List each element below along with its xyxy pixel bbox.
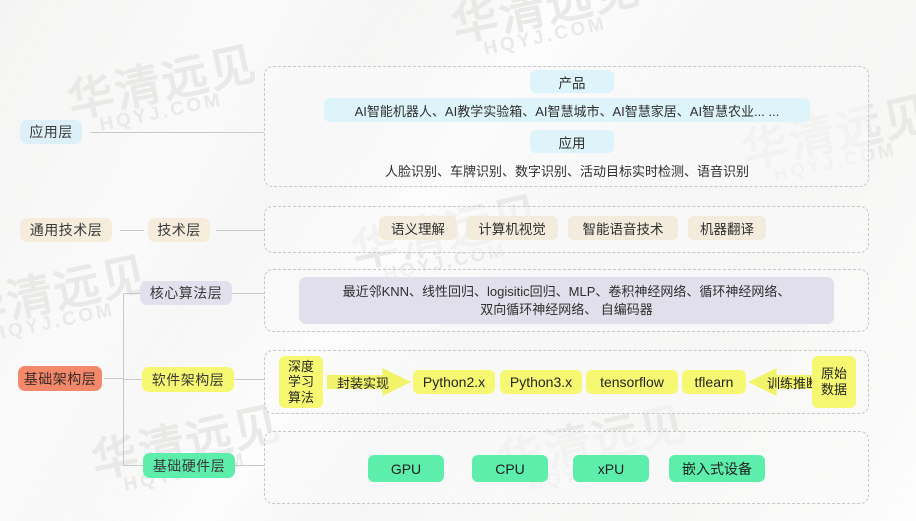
raw-data-line-2: 数据 — [821, 382, 847, 398]
side-label-base-hardware[interactable]: 基础硬件层 — [143, 453, 235, 478]
side-label-tech[interactable]: 技术层 — [148, 218, 210, 242]
connector-infra-to-core — [123, 293, 140, 294]
connector-software-to-group — [234, 379, 264, 380]
tech-chip-computer-vision[interactable]: 计算机视觉 — [466, 216, 558, 240]
watermark-en: HQYJ.COM — [98, 82, 265, 136]
side-label-core-algorithm[interactable]: 核心算法层 — [140, 281, 232, 305]
watermark: 华清远见 HQYJ.COM — [87, 399, 288, 502]
connector-infra-to-software — [123, 379, 142, 380]
core-algorithm-line-2: 双向循环神经网络、 自编码器 — [480, 301, 653, 319]
side-label-infrastructure[interactable]: 基础架构层 — [18, 366, 102, 391]
watermark-cn: 华清远见 — [447, 0, 645, 50]
connector-tech-to-group — [216, 230, 264, 231]
framework-chip-python3[interactable]: Python3.x — [500, 370, 582, 394]
hardware-chip-xpu[interactable]: xPU — [573, 455, 649, 482]
watermark: 华清远见 HQYJ.COM — [63, 39, 264, 142]
watermark-cn: 华清远见 — [63, 39, 261, 126]
group-technology-layer — [264, 206, 869, 253]
diagram-canvas: 华清远见 HQYJ.COM 华清远见 HQYJ.COM 华清远见 HQYJ.CO… — [0, 0, 916, 521]
application-items: 人脸识别、车牌识别、数字识别、活动目标实时检测、语音识别 — [372, 158, 762, 182]
connector-hardware-to-group — [235, 465, 264, 466]
application-heading: 应用 — [530, 130, 614, 153]
hardware-chip-embedded-device[interactable]: 嵌入式设备 — [669, 455, 765, 482]
connector-application — [90, 132, 264, 133]
tech-chip-semantic-understanding[interactable]: 语义理解 — [379, 216, 457, 240]
arrow-right-label: 封装实现 — [332, 370, 394, 394]
watermark-en: HQYJ.COM — [482, 6, 649, 60]
side-label-application[interactable]: 应用层 — [20, 120, 82, 144]
raw-data-line-1: 原始 — [821, 366, 847, 382]
watermark-en: HQYJ.COM — [0, 292, 157, 346]
framework-chip-tensorflow[interactable]: tensorflow — [586, 370, 678, 394]
side-label-general-tech[interactable]: 通用技术层 — [20, 218, 112, 242]
deep-learning-line-1: 深度 — [288, 359, 314, 375]
deep-learning-algorithm-box[interactable]: 深度 学习 算法 — [279, 356, 323, 408]
raw-data-box[interactable]: 原始 数据 — [812, 356, 856, 408]
product-items: AI智能机器人、AI教学实验箱、AI智慧城市、AI智慧家居、AI智慧农业... … — [324, 98, 810, 122]
side-label-software-architecture[interactable]: 软件架构层 — [142, 367, 234, 392]
framework-chip-python2[interactable]: Python2.x — [413, 370, 495, 394]
core-algorithm-line-1: 最近邻KNN、线性回归、logisitic回归、MLP、卷积神经网络、循环神经网… — [343, 283, 791, 301]
hardware-chip-cpu[interactable]: CPU — [472, 455, 548, 482]
tech-chip-machine-translation[interactable]: 机器翻译 — [688, 216, 766, 240]
connector-infra-to-hardware — [123, 465, 143, 466]
watermark: 华清远见 HQYJ.COM — [447, 0, 648, 65]
deep-learning-line-2: 学习 — [288, 374, 314, 390]
connector-general-to-tech — [120, 230, 144, 231]
core-algorithm-block: 最近邻KNN、线性回归、logisitic回归、MLP、卷积神经网络、循环神经网… — [299, 277, 834, 324]
connector-core-to-group — [232, 293, 264, 294]
hardware-chip-gpu[interactable]: GPU — [368, 455, 444, 482]
tech-chip-speech-technology[interactable]: 智能语音技术 — [568, 216, 678, 240]
connector-infra-stem — [104, 378, 123, 379]
framework-chip-tflearn[interactable]: tflearn — [682, 370, 746, 394]
deep-learning-line-3: 算法 — [288, 390, 314, 406]
watermark: 华清远见 HQYJ.COM — [0, 249, 157, 352]
group-hardware-layer — [264, 431, 869, 504]
product-heading: 产品 — [530, 70, 614, 93]
